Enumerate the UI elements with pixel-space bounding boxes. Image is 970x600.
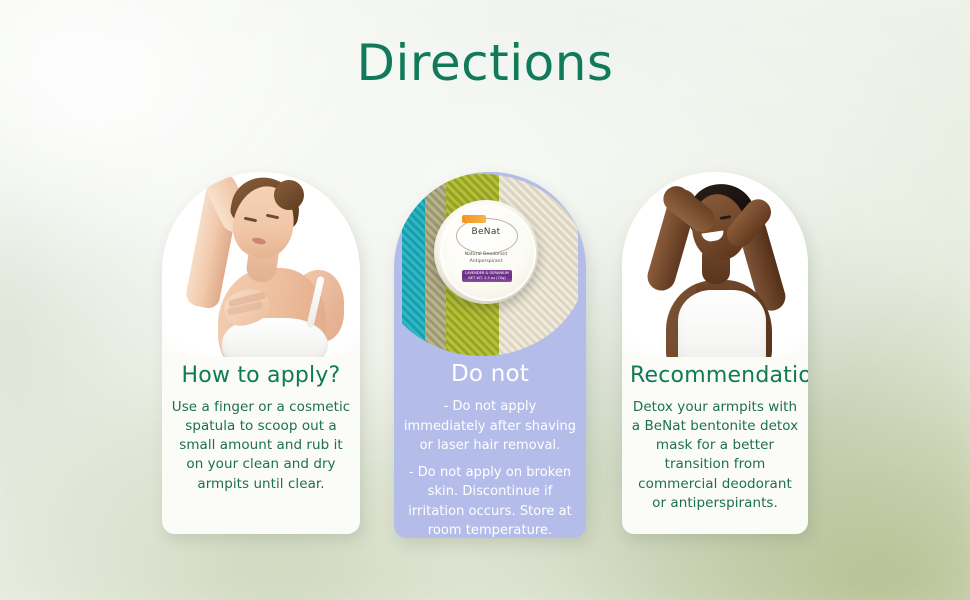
card-image-recommendation (622, 172, 808, 357)
product-label-strip-text: LAVENDER & GERANIUM NET WT. 2.5 oz (70g) (462, 271, 512, 282)
card-recommendation[interactable]: Recommendation Detox your armpits with a… (622, 172, 808, 534)
card-paragraph: Use a finger or a cosmetic spatula to sc… (170, 398, 352, 494)
card-heading-how-to-apply: How to apply? (170, 363, 352, 388)
card-paragraph: - Do not apply on broken skin. Discontin… (402, 463, 578, 539)
card-body-do-not: Do not - Do not apply immediately after … (394, 361, 586, 538)
card-heading-recommendation: Recommendation (630, 363, 800, 388)
woman2-tank-top (678, 290, 766, 357)
card-body-how-to-apply: How to apply? Use a finger or a cosmetic… (162, 363, 360, 494)
card-how-to-apply[interactable]: How to apply? Use a finger or a cosmetic… (162, 172, 360, 534)
card-heading-do-not: Do not (402, 361, 578, 387)
card-body-recommendation: Recommendation Detox your armpits with a… (622, 363, 808, 513)
card-paragraph: - Do not apply immediately after shaving… (402, 397, 578, 456)
product-badge (462, 215, 486, 223)
card-paragraph: Detox your armpits with a BeNat bentonit… (630, 398, 800, 513)
card-image-do-not: BeNat Natural Deodorant Antiperspirant L… (394, 172, 586, 357)
directions-section: Directions How to apply? Use a finger or… (0, 0, 970, 600)
woman-hair-bun (274, 180, 304, 210)
card-image-how-to-apply (162, 172, 360, 357)
product-brand-name: BeNat (456, 227, 516, 237)
page-title: Directions (0, 34, 970, 92)
card-do-not[interactable]: BeNat Natural Deodorant Antiperspirant L… (394, 172, 586, 538)
product-subtitle: Natural Deodorant Antiperspirant (450, 252, 522, 265)
